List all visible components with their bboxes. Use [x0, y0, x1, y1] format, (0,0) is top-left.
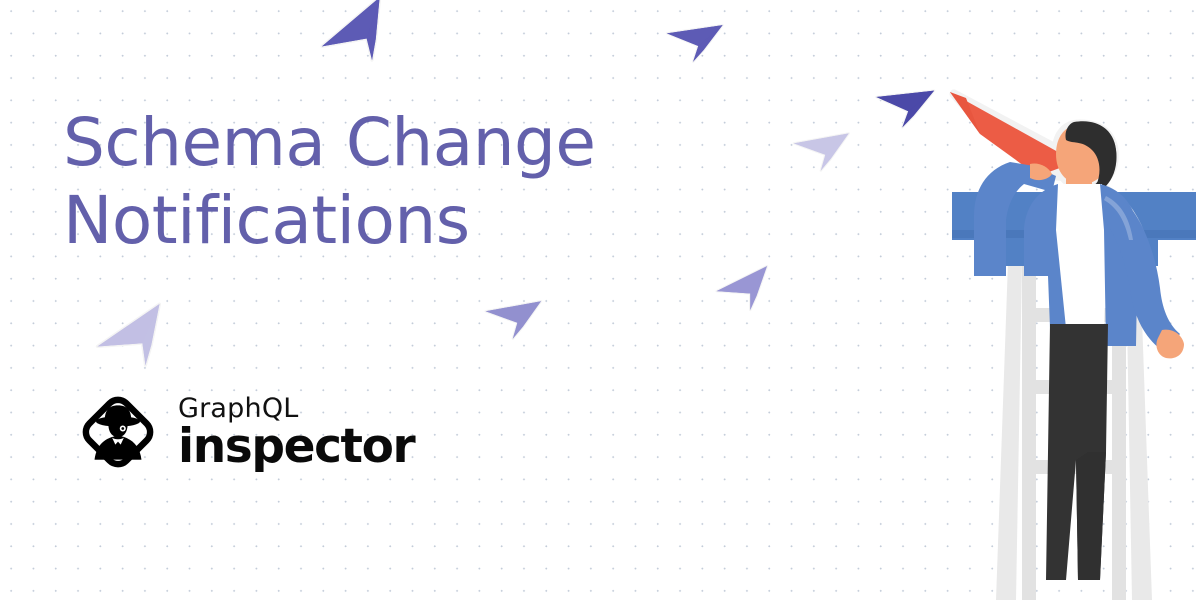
- person-with-megaphone-illustration: [930, 80, 1200, 600]
- logo-wordmark: GraphQL inspector: [178, 395, 414, 470]
- paper-plane-1: [309, 0, 408, 84]
- logo-word-graphql: GraphQL: [178, 395, 414, 422]
- paper-plane-2: [663, 15, 726, 69]
- page-title-line-1: Schema Change: [63, 104, 623, 182]
- page-title-line-2: Notifications: [63, 182, 623, 260]
- page-title: Schema Change Notifications: [63, 104, 623, 260]
- paper-plane-6: [482, 293, 543, 345]
- logo-word-inspector: inspector: [178, 423, 414, 470]
- paper-plane-3: [870, 79, 938, 135]
- paper-plane-5: [712, 261, 779, 320]
- paper-plane-4: [790, 126, 851, 176]
- banner: Schema Change Notifications: [0, 0, 1200, 600]
- detective-diamond-icon: [72, 386, 164, 478]
- paper-plane-7: [86, 298, 184, 384]
- graphql-inspector-logo: GraphQL inspector: [72, 386, 414, 478]
